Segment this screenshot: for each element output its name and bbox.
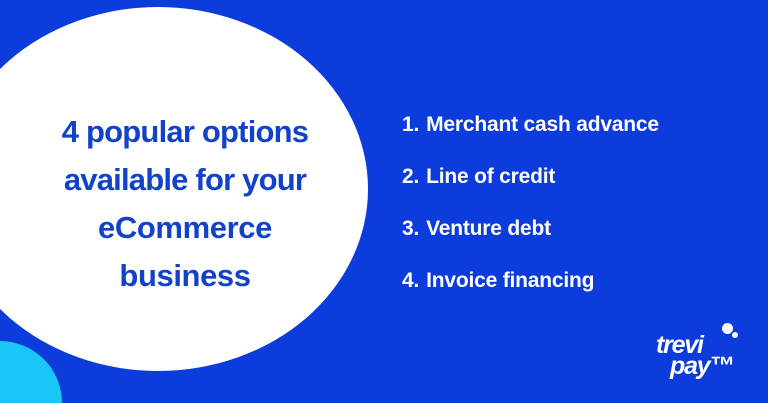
headline-line-2: available for your [20,156,350,204]
logo-dot-small-icon [732,332,738,338]
headline-line-3: eCommerce [20,204,350,252]
trevipay-logo: trevi pay™ [656,323,748,385]
list-item-number: 3. [402,217,419,241]
list-item-number: 4. [402,269,419,293]
headline-line-4: business [20,252,350,300]
list-item: 1. Merchant cash advance [402,113,732,165]
logo-trademark-symbol: ™ [709,352,733,380]
list-item-number: 2. [402,165,419,189]
list-item-label: Line of credit [426,165,555,189]
list-item-label: Invoice financing [426,269,594,293]
headline-line-1: 4 popular options [20,108,350,156]
promo-graphic: 4 popular options available for your eCo… [0,0,768,403]
logo-pay-text: pay [670,352,709,380]
list-item-label: Merchant cash advance [426,113,659,137]
list-item-number: 1. [402,113,419,137]
list-item: 4. Invoice financing [402,269,732,321]
options-list: 1. Merchant cash advance 2. Line of cred… [402,113,732,321]
cyan-quarter-circle-decoration [0,341,62,403]
list-item: 2. Line of credit [402,165,732,217]
list-item: 3. Venture debt [402,217,732,269]
logo-wordmark-pay: pay™ [670,354,733,379]
list-item-label: Venture debt [426,217,551,241]
headline: 4 popular options available for your eCo… [20,108,350,300]
logo-dot-large-icon [722,323,733,334]
